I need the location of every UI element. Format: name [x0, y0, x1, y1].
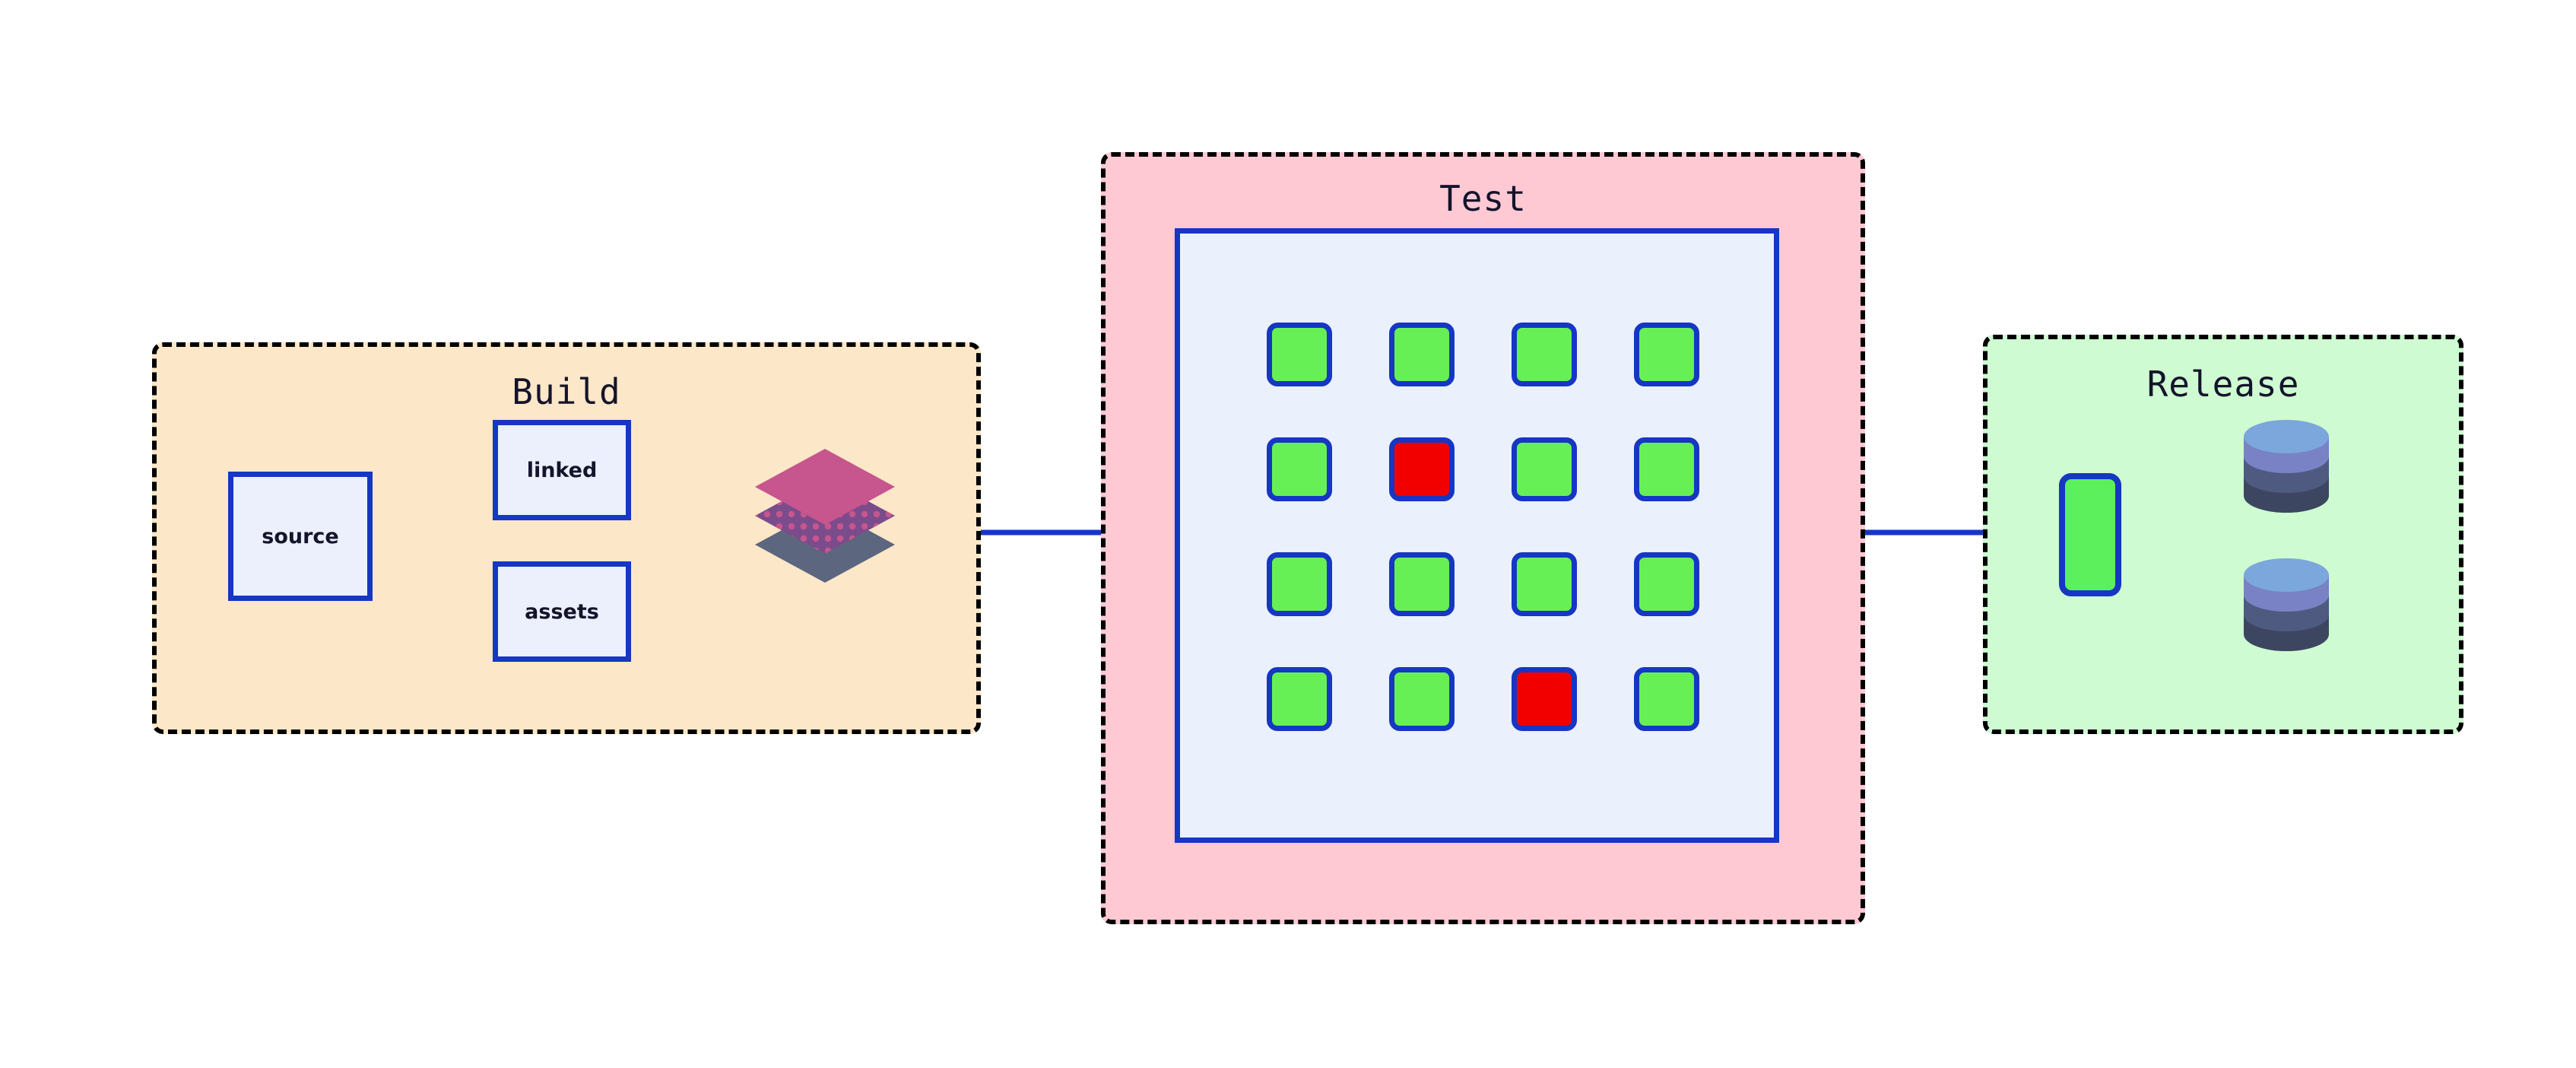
- database-icon[interactable]: [2241, 555, 2332, 654]
- test-cell-r4c2[interactable]: [1389, 667, 1455, 731]
- release-artifact-bar[interactable]: [2059, 473, 2121, 596]
- test-cell-r2c4[interactable]: [1634, 437, 1699, 501]
- node-assets-label: assets: [525, 600, 599, 624]
- test-cell-r2c3[interactable]: [1512, 437, 1577, 501]
- test-cell-r1c3[interactable]: [1512, 323, 1577, 386]
- test-cell-r4c1[interactable]: [1267, 667, 1332, 731]
- test-results-panel: [1175, 228, 1779, 843]
- test-cell-r3c2[interactable]: [1389, 552, 1455, 616]
- test-cell-r2c2[interactable]: [1389, 437, 1455, 501]
- test-cell-r1c2[interactable]: [1389, 323, 1455, 386]
- node-source-label: source: [262, 525, 338, 548]
- test-cell-r1c1[interactable]: [1267, 323, 1332, 386]
- stage-release-title: Release: [1988, 364, 2459, 405]
- test-cell-r2c1[interactable]: [1267, 437, 1332, 501]
- test-cell-r4c4[interactable]: [1634, 667, 1699, 731]
- test-cell-r1c4[interactable]: [1634, 323, 1699, 386]
- node-linked-label: linked: [527, 459, 598, 482]
- diagram-canvas: Build source linked assets Test: [0, 0, 2576, 1068]
- stage-build-title: Build: [157, 371, 976, 412]
- stage-test-title: Test: [1106, 178, 1861, 219]
- test-cell-r3c4[interactable]: [1634, 552, 1699, 616]
- test-cell-r4c3[interactable]: [1512, 667, 1577, 731]
- node-source[interactable]: source: [228, 472, 373, 601]
- node-linked[interactable]: linked: [493, 420, 631, 520]
- node-assets[interactable]: assets: [493, 561, 631, 662]
- database-icon[interactable]: [2241, 417, 2332, 516]
- stage-release: Release: [1983, 335, 2463, 734]
- stacked-layers-icon: [749, 447, 901, 599]
- test-cell-r3c1[interactable]: [1267, 552, 1332, 616]
- test-cell-r3c3[interactable]: [1512, 552, 1577, 616]
